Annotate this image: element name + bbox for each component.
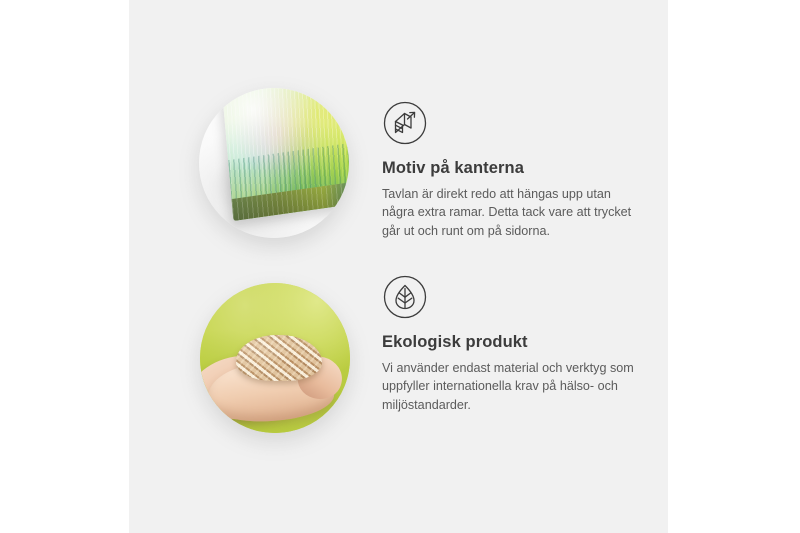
feature-body-1: Tavlan är direkt redo att hängas upp uta… — [382, 185, 644, 241]
feature-text-column-1: Motiv på kanterna Tavlan är direkt redo … — [382, 100, 658, 240]
feature-title-2: Ekologisk produkt — [382, 333, 658, 353]
canvas-wrapped-edge-icon — [382, 100, 428, 146]
feature-text-column-2: Ekologisk produkt Vi använder endast mat… — [382, 274, 658, 414]
hands-holding-wood-chips-photo — [200, 283, 350, 433]
wood-chips — [236, 335, 322, 381]
canvas-photo-background — [199, 88, 349, 238]
feature-title-1: Motiv på kanterna — [382, 159, 658, 179]
eco-photo-background — [200, 283, 350, 433]
feature-body-2: Vi använder endast material och verktyg … — [382, 359, 644, 415]
leaf-icon — [382, 274, 428, 320]
wrapped-canvas-corner-photo — [199, 88, 349, 238]
product-feature-banner: Motiv på kanterna Tavlan är direkt redo … — [0, 0, 800, 533]
canvas-block — [222, 88, 349, 221]
feature-panel: Motiv på kanterna Tavlan är direkt redo … — [129, 0, 668, 533]
